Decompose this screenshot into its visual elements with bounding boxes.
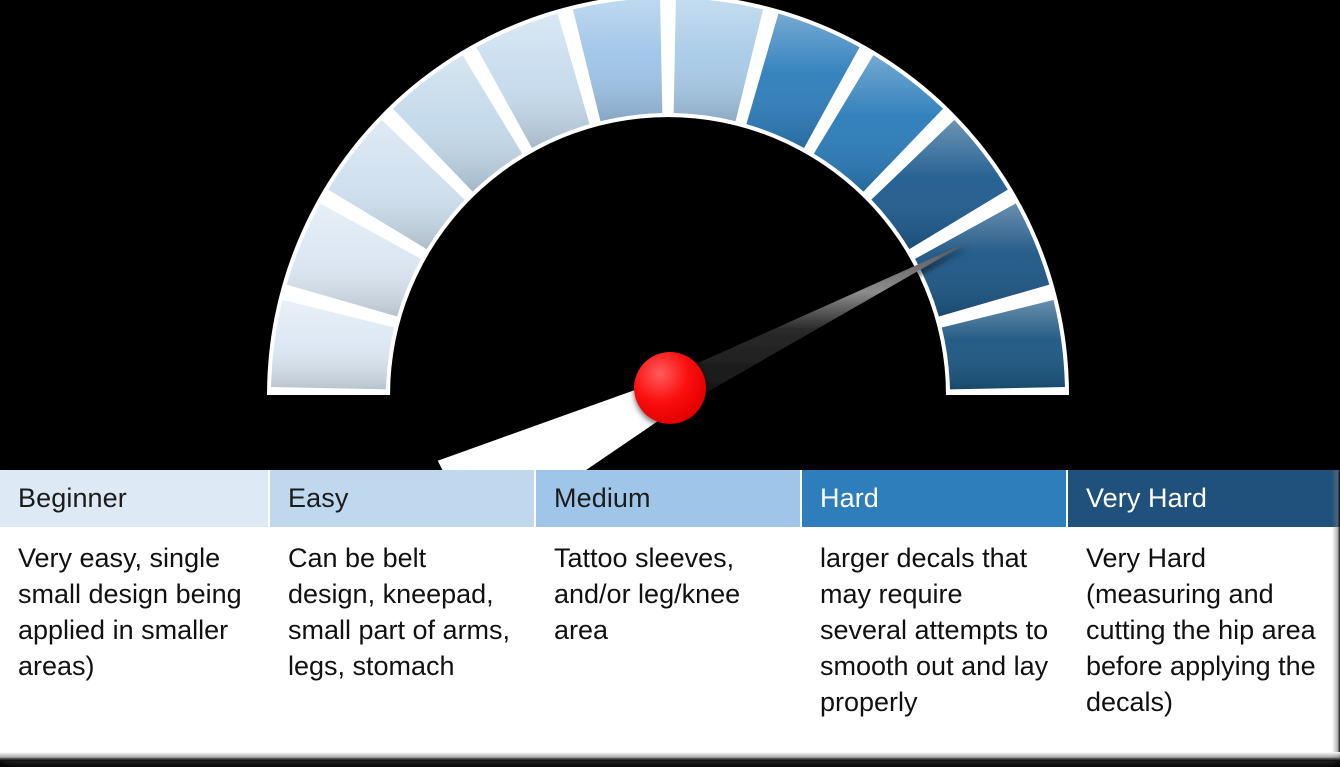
legend-cell-easy: Can be belt design, kneepad, small part … <box>270 527 534 758</box>
legend-cell-hard: larger decals that may require several a… <box>802 527 1066 758</box>
legend-cell-medium: Tattoo sleeves, and/or leg/knee area <box>536 527 800 758</box>
table-right-edge-shadow <box>1332 470 1340 758</box>
legend-header-medium: Medium <box>536 470 800 527</box>
slide-canvas: Beginner Very easy, single small design … <box>0 0 1340 767</box>
gauge-needle <box>660 242 969 411</box>
legend-column-beginner: Beginner Very easy, single small design … <box>0 470 268 758</box>
legend-header-beginner: Beginner <box>0 470 268 527</box>
table-bottom-shadow <box>0 752 1340 761</box>
legend-header-hard: Hard <box>802 470 1066 527</box>
legend-cell-very-hard: Very Hard (measuring and cutting the hip… <box>1068 527 1340 758</box>
needle-hub <box>634 352 706 424</box>
difficulty-gauge <box>0 0 1340 470</box>
difficulty-legend-table: Beginner Very easy, single small design … <box>0 470 1340 758</box>
legend-column-medium: Medium Tattoo sleeves, and/or leg/knee a… <box>534 470 800 758</box>
legend-column-easy: Easy Can be belt design, kneepad, small … <box>268 470 534 758</box>
legend-column-hard: Hard larger decals that may require seve… <box>800 470 1066 758</box>
legend-cell-beginner: Very easy, single small design being app… <box>0 527 268 758</box>
legend-header-easy: Easy <box>270 470 534 527</box>
legend-header-very-hard: Very Hard <box>1068 470 1340 527</box>
legend-column-very-hard: Very Hard Very Hard (measuring and cutti… <box>1066 470 1340 758</box>
legend-table-body: Beginner Very easy, single small design … <box>0 470 1340 758</box>
